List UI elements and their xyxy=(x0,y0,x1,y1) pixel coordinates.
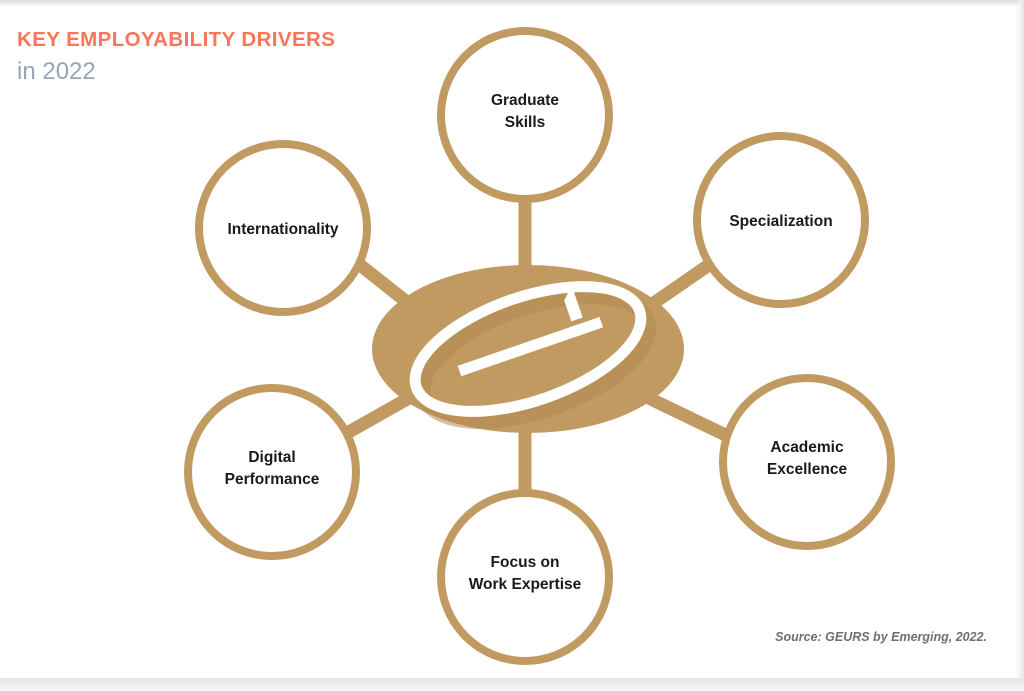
node-digital-performance[interactable]: Digital Performance xyxy=(188,388,356,556)
node-academic-excellence[interactable]: Academic Excellence xyxy=(723,378,891,546)
node-label-academic-excellence-line2: Excellence xyxy=(767,461,848,478)
window-chrome-top xyxy=(0,0,1024,7)
node-label-internationality-line1: Internationality xyxy=(227,221,338,238)
node-label-academic-excellence-line1: Academic xyxy=(770,439,844,456)
node-label-specialization-line1: Specialization xyxy=(729,213,832,230)
node-graduate-skills[interactable]: Graduate Skills xyxy=(441,31,609,199)
node-label-digital-performance-line2: Performance xyxy=(225,471,320,488)
node-label-focus-on-work-expertise-line2: Work Expertise xyxy=(469,576,582,593)
node-focus-on-work-expertise[interactable]: Focus on Work Expertise xyxy=(441,493,609,661)
source-note: Source: GEURS by Emerging, 2022. xyxy=(775,630,987,644)
node-label-graduate-skills-line2: Skills xyxy=(505,114,546,131)
window-chrome-bottom xyxy=(0,678,1024,691)
employability-drivers-diagram: Graduate Skills Specialization Academic … xyxy=(0,7,1015,678)
slide-page: KEY EMPLOYABILITY DRIVERS in 2022 xyxy=(0,0,1024,691)
slide-canvas: KEY EMPLOYABILITY DRIVERS in 2022 xyxy=(0,7,1015,678)
node-internationality[interactable]: Internationality xyxy=(199,144,367,312)
node-label-digital-performance-line1: Digital xyxy=(248,449,295,466)
node-label-focus-on-work-expertise-line1: Focus on xyxy=(491,554,560,571)
window-chrome-right xyxy=(1015,0,1024,691)
node-label-graduate-skills-line1: Graduate xyxy=(491,92,559,109)
node-specialization[interactable]: Specialization xyxy=(697,136,865,304)
center-hub[interactable] xyxy=(372,260,684,448)
